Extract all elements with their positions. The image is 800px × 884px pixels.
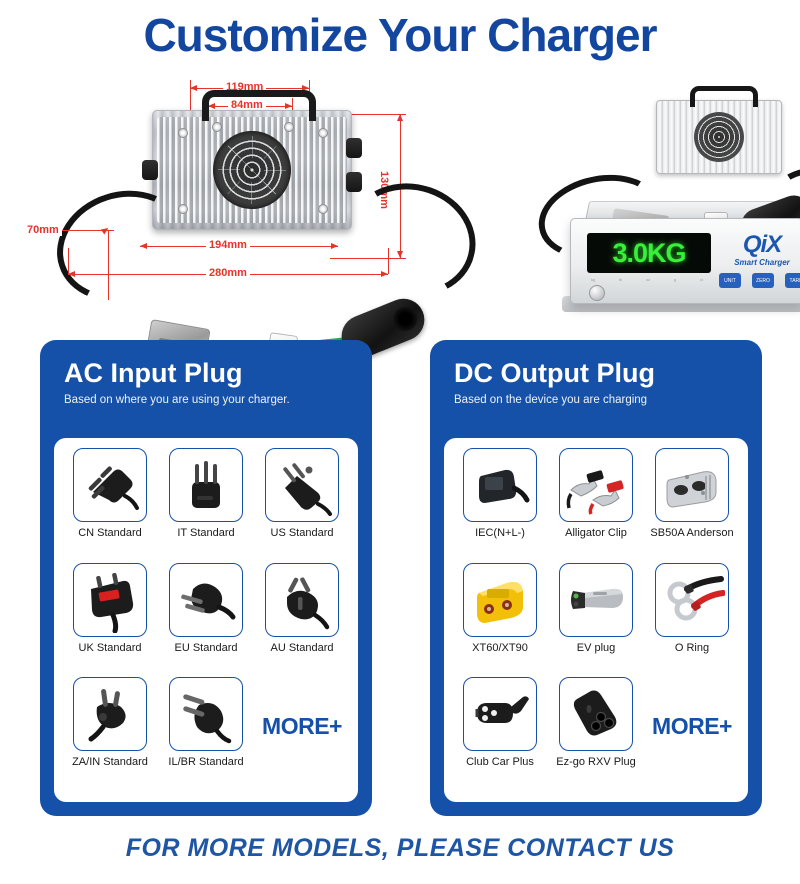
dim-tick-70 [108,230,109,300]
us-plug-label: US Standard [271,527,334,539]
scale-unit-button[interactable]: UNIT [719,273,741,288]
au-plug-icon [269,567,335,633]
scale-tare-button[interactable]: TARE [785,273,800,288]
plug-option-o-ring[interactable]: O Ring [644,563,740,678]
au-plug-tile[interactable] [265,563,339,637]
za-in-plug-tile[interactable] [73,677,147,751]
iec-connector-label: IEC(N+L-) [475,527,525,539]
charger-unit [152,110,352,230]
plug-option-anderson[interactable]: SB50A Anderson [644,448,740,563]
scale-base: 3.0KG kg lb oz g ct QiX Smart Charger UN… [570,218,800,304]
screw-icon [318,128,328,138]
unit-mark-g: g [674,277,676,282]
it-plug-tile[interactable] [169,448,243,522]
ac-panel-title: AC Input Plug [64,360,358,387]
dc-panel-subtitle: Based on the device you are charging [454,394,748,406]
scale-power-button[interactable] [589,285,605,301]
scale-display: 3.0KG [587,233,711,273]
charger-on-scale [656,100,782,174]
eu-plug-label: EU Standard [175,642,238,654]
ev-plug-icon [563,567,629,633]
dc-output-port-2 [346,172,362,192]
page-title: Customize Your Charger [0,8,800,62]
plug-option-il-br[interactable]: IL/BR Standard [158,677,254,792]
dim-arrow-right-194 [331,243,338,249]
cooling-fan-icon-small [694,112,744,162]
plug-option-ev[interactable]: EV plug [548,563,644,678]
dim-tick-280-left [68,248,69,274]
o-ring-terminal-label: O Ring [675,642,709,654]
uk-plug-icon [77,567,143,633]
plug-option-eu[interactable]: EU Standard [158,563,254,678]
ac-plug-grid: CN Standard IT Standard [62,448,350,792]
dc-plug-card: IEC(N+L-) Alligator Clip [444,438,748,802]
plug-option-us[interactable]: US Standard [254,448,350,563]
screw-icon [212,122,222,132]
unit-mark-ct: ct [700,277,703,282]
za-in-plug-label: ZA/IN Standard [72,756,148,768]
eu-plug-tile[interactable] [169,563,243,637]
xt60-connector-icon [467,567,533,633]
screw-icon [284,122,294,132]
dim-arrow-left-119 [190,85,197,91]
iec-connector-tile[interactable] [463,448,537,522]
dim-arrow-up-130 [397,114,403,121]
ezgo-rxv-plug-label: Ez-go RXV Plug [556,756,635,768]
weighing-scale: 3.0KG kg lb oz g ct QiX Smart Charger UN… [508,90,758,370]
scale-zero-button[interactable]: ZERO [752,273,774,288]
il-br-plug-label: IL/BR Standard [168,756,243,768]
screw-icon [178,128,188,138]
cn-plug-tile[interactable] [73,448,147,522]
ezgo-rxv-plug-tile[interactable] [559,677,633,751]
club-car-plug-label: Club Car Plus [466,756,534,768]
us-plug-icon [269,452,335,518]
ac-input-port [142,160,158,180]
it-plug-icon [173,452,239,518]
alligator-clip-icon [563,452,629,518]
dc-output-port [346,138,362,158]
charger-handle-small [690,86,758,107]
us-plug-tile[interactable] [265,448,339,522]
anderson-sb50a-icon [659,452,725,518]
eu-plug-icon [173,567,239,633]
plug-option-za-in[interactable]: ZA/IN Standard [62,677,158,792]
anderson-sb50a-tile[interactable] [655,448,729,522]
unit-mark-oz: oz [646,277,650,282]
plug-option-uk[interactable]: UK Standard [62,563,158,678]
plug-option-au[interactable]: AU Standard [254,563,350,678]
plug-option-it[interactable]: IT Standard [158,448,254,563]
brand-logo: QiX Smart Charger [721,233,800,267]
dim-arrow-right-280 [381,271,388,277]
dc-more-option[interactable]: MORE+ [644,677,740,792]
o-ring-terminal-tile[interactable] [655,563,729,637]
scale-button-row: UNIT ZERO TARE [719,273,800,288]
plug-option-iec[interactable]: IEC(N+L-) [452,448,548,563]
il-br-plug-tile[interactable] [169,677,243,751]
hero-section: 119mm 84mm 130mm [0,72,800,327]
dc-more-label: MORE+ [652,713,732,740]
ac-input-panel: AC Input Plug Based on where you are usi… [40,340,372,816]
plug-option-club-car[interactable]: Club Car Plus [452,677,548,792]
alligator-clip-label: Alligator Clip [565,527,627,539]
dim-arrow-left-194 [140,243,147,249]
unit-mark-lb: lb [619,277,622,282]
ev-plug-tile[interactable] [559,563,633,637]
scale-unit-marks: kg lb oz g ct [591,277,703,282]
club-car-plug-tile[interactable] [463,677,537,751]
unit-mark-kg: kg [591,277,595,282]
brand-name: QiX [721,233,800,257]
au-plug-label: AU Standard [271,642,334,654]
product-infographic: Customize Your Charger 119mm 84mm 130mm [0,0,800,884]
club-car-plug-icon [467,681,533,747]
dc-plug-grid: IEC(N+L-) Alligator Clip [452,448,740,792]
il-br-plug-icon [173,681,239,747]
ev-plug-label: EV plug [577,642,616,654]
it-plug-label: IT Standard [177,527,234,539]
screw-icon [318,204,328,214]
cn-plug-label: CN Standard [78,527,142,539]
plug-option-alligator[interactable]: Alligator Clip [548,448,644,563]
iec-connector-icon [467,452,533,518]
ac-more-label: MORE+ [262,713,342,740]
uk-plug-label: UK Standard [79,642,142,654]
weight-value: 3.0KG [612,238,685,269]
footer-contact-text: FOR MORE MODELS, PLEASE CONTACT US [0,834,800,863]
screw-icon [178,204,188,214]
plug-option-ezgo-rxv[interactable]: Ez-go RXV Plug [548,677,644,792]
charger-handle [202,90,316,121]
ac-more-option[interactable]: MORE+ [254,677,350,792]
brand-tagline: Smart Charger [721,258,800,267]
dc-panel-title: DC Output Plug [454,360,748,387]
plug-option-xt60[interactable]: XT60/XT90 [452,563,548,678]
dim-arrow-left-280 [68,271,75,277]
dim-label-194mm: 194mm [206,239,250,251]
ac-plug-card: CN Standard IT Standard [54,438,358,802]
o-ring-terminal-icon [659,567,725,633]
dim-label-70mm: 70mm [24,224,62,236]
cn-plug-icon [77,452,143,518]
ezgo-rxv-plug-icon [563,681,629,747]
cooling-fan-icon [213,131,291,209]
alligator-clip-tile[interactable] [559,448,633,522]
ac-panel-subtitle: Based on where you are using your charge… [64,394,358,406]
xt60-connector-label: XT60/XT90 [472,642,528,654]
dim-label-280mm: 280mm [206,267,250,279]
za-in-plug-icon [77,681,143,747]
dc-output-panel: DC Output Plug Based on the device you a… [430,340,762,816]
uk-plug-tile[interactable] [73,563,147,637]
plug-option-cn[interactable]: CN Standard [62,448,158,563]
xt60-connector-tile[interactable] [463,563,537,637]
dim-tick-280-right [388,248,389,274]
anderson-sb50a-label: SB50A Anderson [650,527,733,539]
